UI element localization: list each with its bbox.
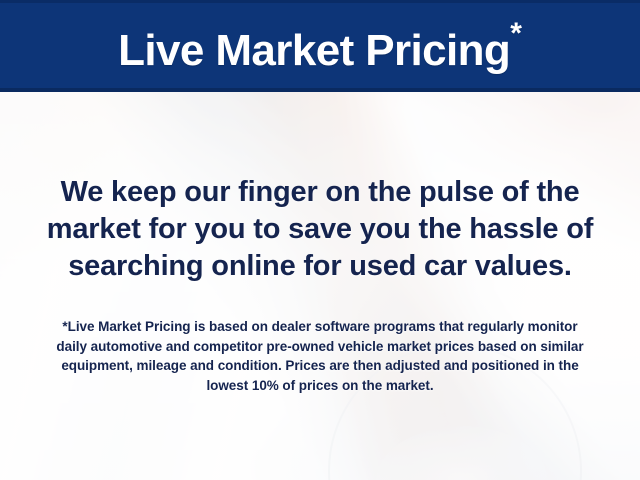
disclaimer-line-4: lowest 10% of prices on the market. — [20, 376, 620, 396]
page-title: Live Market Pricing* — [118, 19, 522, 73]
headline: We keep our finger on the pulse of the m… — [18, 174, 622, 285]
disclaimer-line-2: daily automotive and competitor pre-owne… — [20, 337, 620, 357]
live-market-pricing-banner: Live Market Pricing* We keep our finger … — [0, 0, 640, 480]
header-bar: Live Market Pricing* — [0, 0, 640, 92]
headline-line-2: market for you to save you the hassle of — [18, 211, 622, 248]
headline-line-3: searching online for used car values. — [18, 248, 622, 285]
page-title-asterisk: * — [510, 17, 522, 50]
disclaimer: *Live Market Pricing is based on dealer … — [20, 317, 620, 395]
disclaimer-line-3: equipment, mileage and condition. Prices… — [20, 356, 620, 376]
page-title-text: Live Market Pricing — [118, 26, 510, 75]
content-area: We keep our finger on the pulse of the m… — [0, 92, 640, 480]
headline-line-1: We keep our finger on the pulse of the — [18, 174, 622, 211]
disclaimer-line-1: *Live Market Pricing is based on dealer … — [20, 317, 620, 337]
